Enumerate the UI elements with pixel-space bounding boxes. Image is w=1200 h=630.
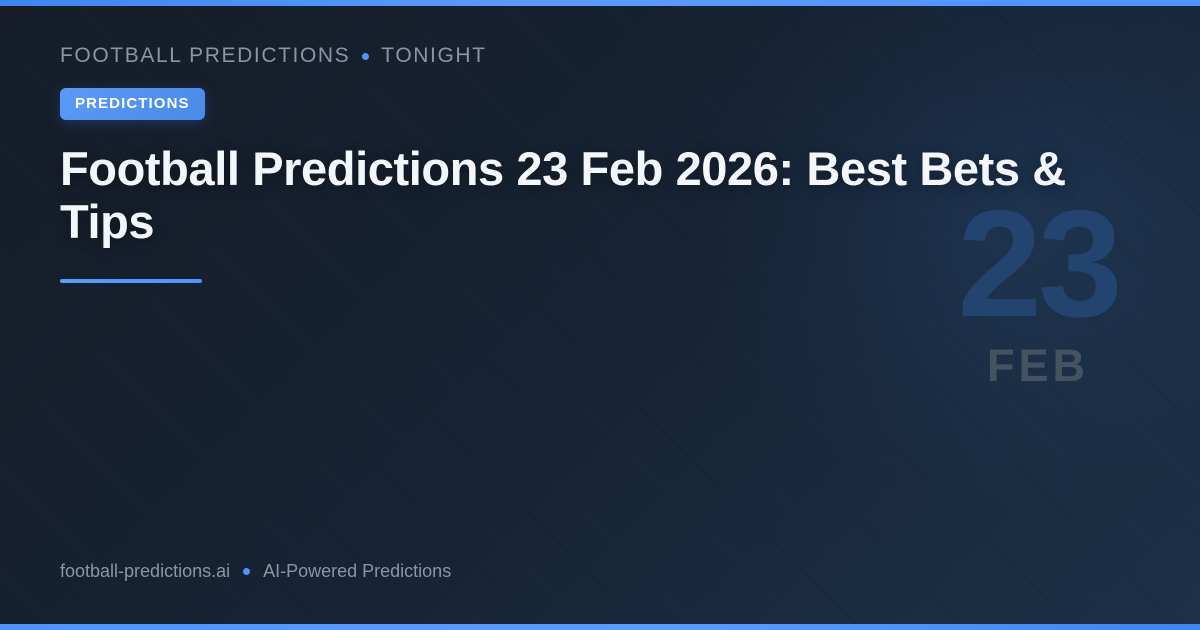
eyebrow: FOOTBALL PREDICTIONS TONIGHT (60, 44, 1140, 68)
footer-bullet-dot-icon (243, 568, 250, 575)
footer-tagline: AI-Powered Predictions (263, 561, 451, 582)
page-title: Football Predictions 23 Feb 2026: Best B… (60, 142, 1070, 248)
og-share-card: 23 FEB FOOTBALL PREDICTIONS TONIGHT PRED… (0, 0, 1200, 630)
title-accent-underline (60, 279, 202, 283)
status-badge: PREDICTIONS (60, 88, 205, 120)
eyebrow-left-label: FOOTBALL PREDICTIONS (60, 44, 350, 68)
footer-site-label: football-predictions.ai (60, 561, 230, 582)
eyebrow-right-label: TONIGHT (381, 44, 486, 68)
bottom-accent-bar (0, 624, 1200, 630)
card-content: FOOTBALL PREDICTIONS TONIGHT PREDICTIONS… (60, 44, 1140, 283)
top-accent-bar (0, 0, 1200, 6)
footer: football-predictions.ai AI-Powered Predi… (60, 561, 451, 582)
bullet-dot-icon (362, 53, 369, 60)
